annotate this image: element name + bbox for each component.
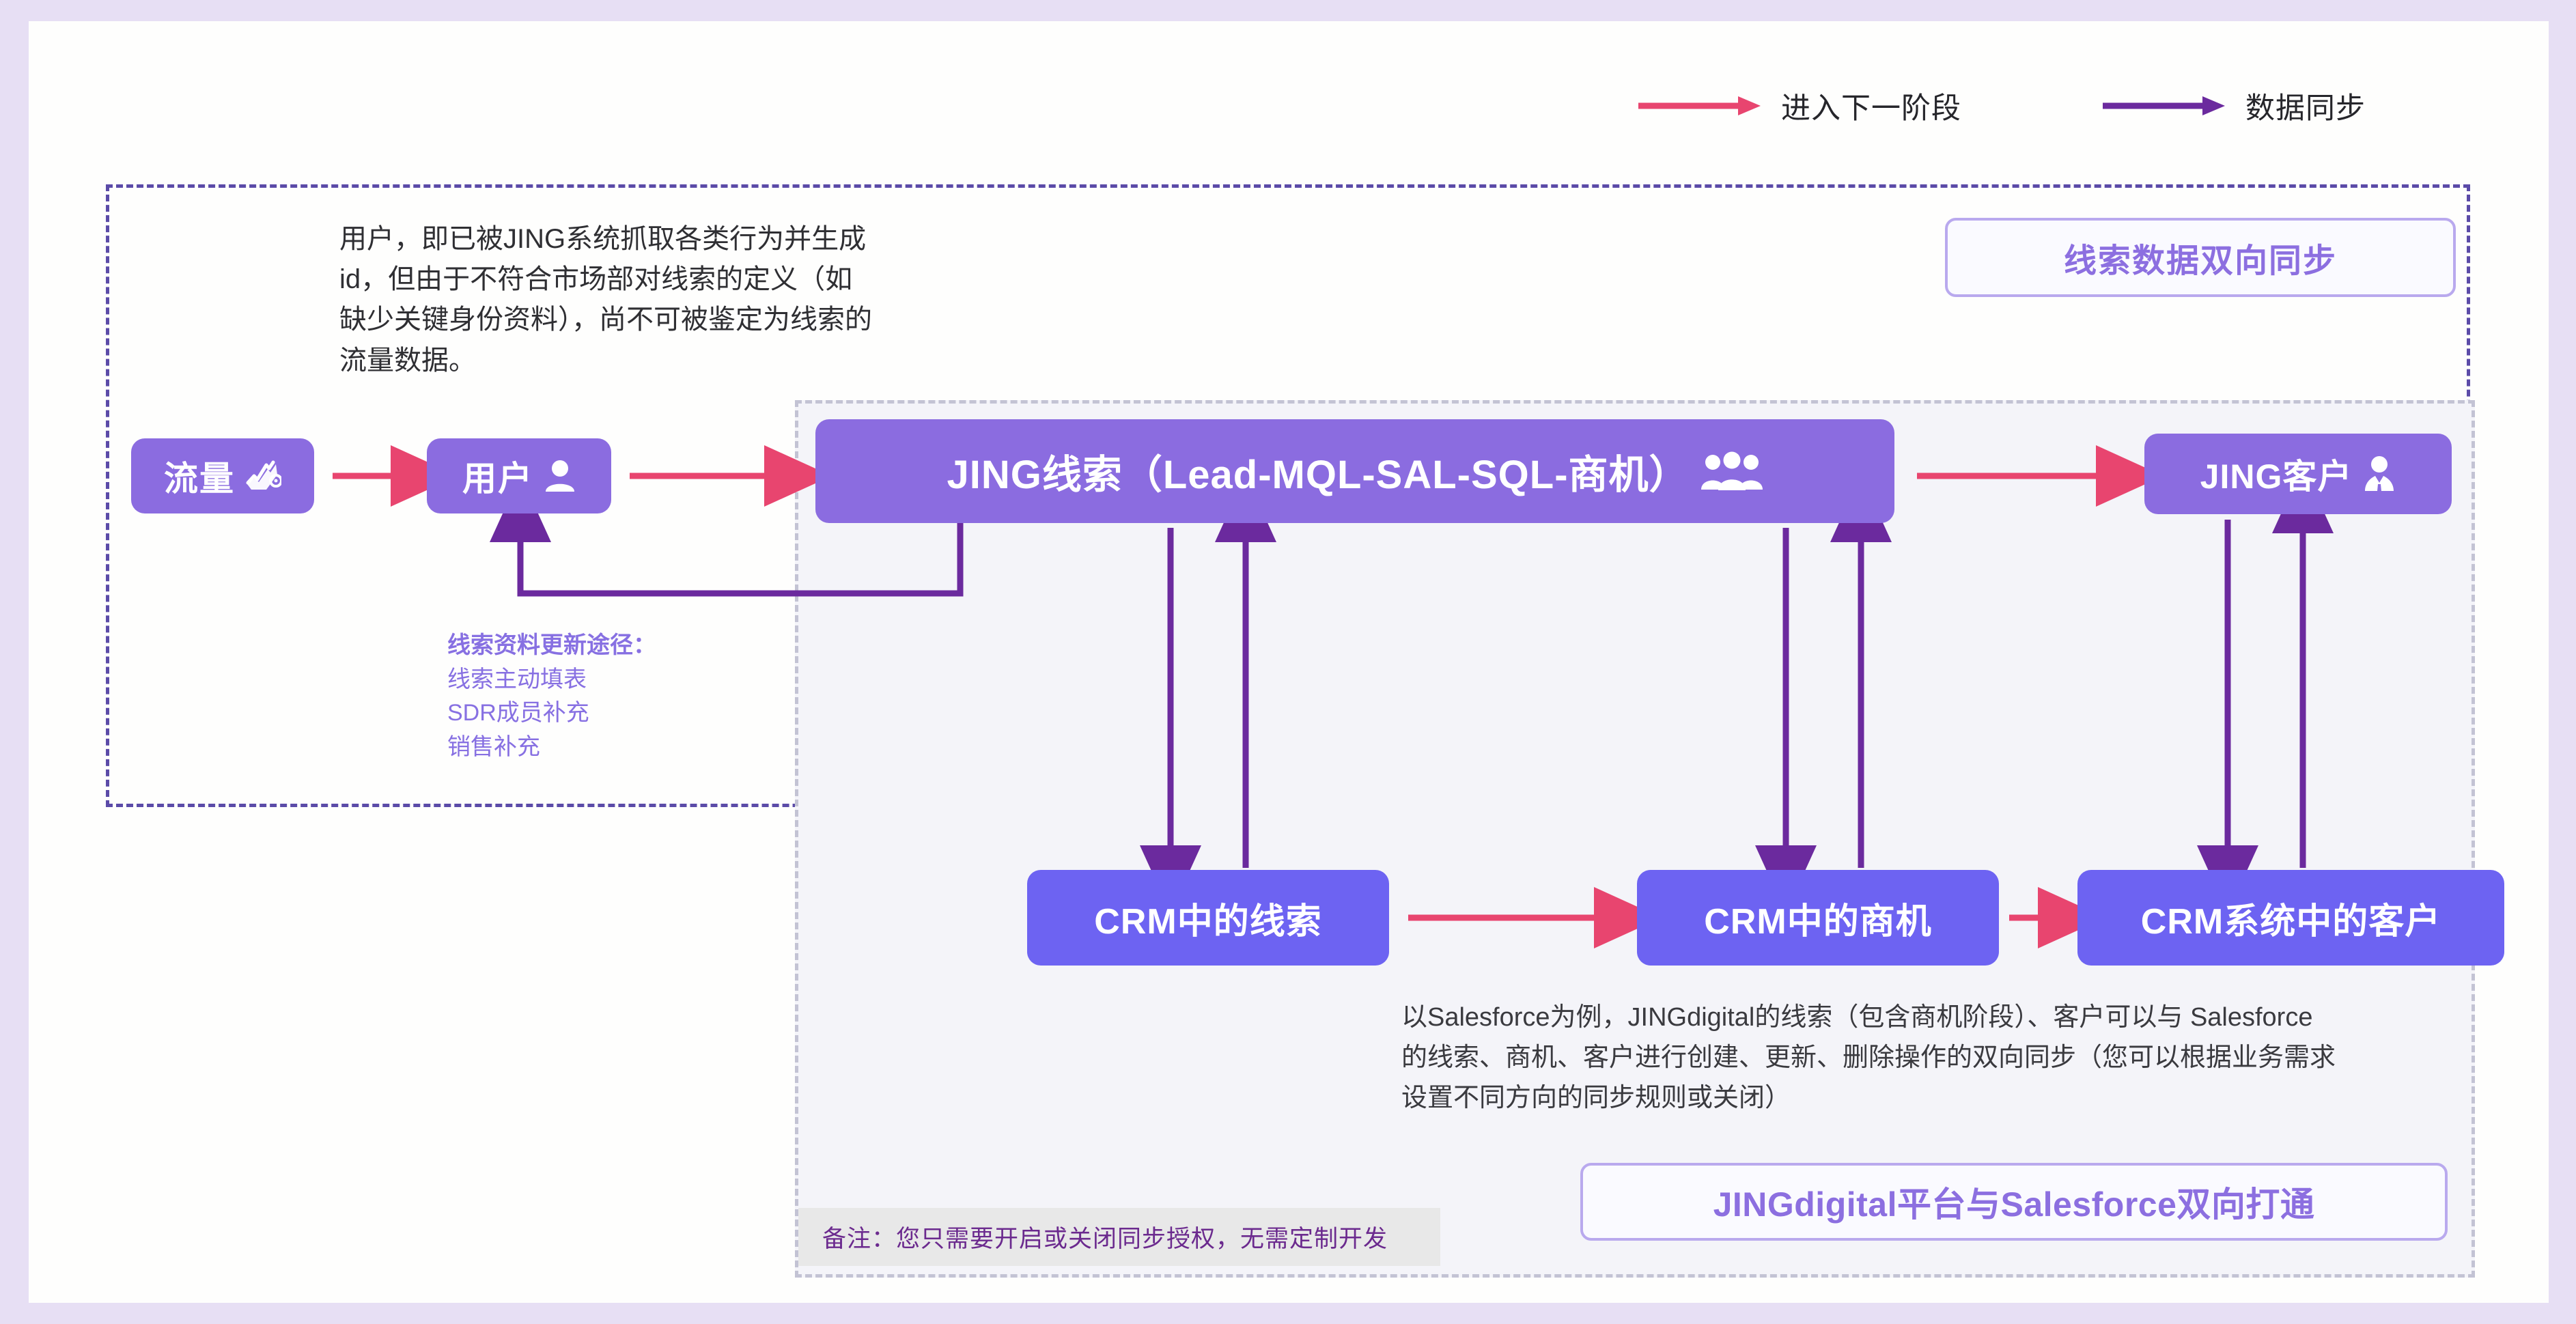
legend-item-data-sync: 数据同步 [2101,85,2366,127]
chart-trend-icon [246,460,281,492]
node-traffic-label: 流量 [164,451,235,501]
footnote-text: 备注：您只需要开启或关闭同步授权，无需定制开发 [822,1220,1388,1254]
people-group-icon [1700,451,1763,491]
badge-salesforce-sync-label: JINGdigital平台与Salesforce双向打通 [1713,1177,2315,1226]
legend-label-data-sync: 数据同步 [2245,85,2366,127]
intro-description: 用户，即已被JING系统抓取各类行为并生成id，但由于不符合市场部对线索的定义（… [339,219,879,381]
arrow-right-icon [1637,92,1763,119]
node-jing-customer-label: JING客户 [2200,449,2353,498]
badge-lead-data-sync: 线索数据双向同步 [1945,218,2456,297]
arrow-right-icon [2101,92,2228,119]
node-user[interactable]: 用户 [427,438,611,513]
lead-update-path-item: 线索主动填表 [447,663,656,697]
node-crm-lead[interactable]: CRM中的线索 [1027,870,1389,966]
badge-lead-data-sync-label: 线索数据双向同步 [2064,234,2337,281]
legend-item-next-stage: 进入下一阶段 [1637,85,1961,127]
legend: 进入下一阶段 数据同步 [1637,81,2366,130]
node-jing-lead[interactable]: JING线索（Lead-MQL-SAL-SQL-商机） [815,419,1894,523]
crm-salesforce-region [795,400,2475,1278]
lead-update-path-item: 销售补充 [447,731,656,765]
diagram-canvas: 进入下一阶段 数据同步 [29,21,2549,1303]
lead-update-path-item: SDR成员补充 [447,696,656,731]
person-suit-icon [2363,455,2396,492]
node-crm-customer-label: CRM系统中的客户 [2141,892,2441,944]
lead-update-paths: 线索资料更新途径： 线索主动填表 SDR成员补充 销售补充 [447,629,656,765]
salesforce-description: 以Salesforce为例，JINGdigital的线索（包含商机阶段）、客户可… [1401,998,2344,1118]
person-icon [544,459,576,493]
node-user-label: 用户 [462,451,533,501]
node-crm-lead-label: CRM中的线索 [1094,892,1321,944]
badge-salesforce-sync: JINGdigital平台与Salesforce双向打通 [1580,1163,2448,1241]
node-crm-opportunity[interactable]: CRM中的商机 [1637,870,1999,966]
node-jing-lead-label: JING线索（Lead-MQL-SAL-SQL-商机） [947,442,1689,500]
lead-update-paths-heading: 线索资料更新途径： [447,629,656,663]
legend-label-next-stage: 进入下一阶段 [1781,85,1961,127]
node-crm-opportunity-label: CRM中的商机 [1704,892,1931,944]
node-jing-customer[interactable]: JING客户 [2144,434,2452,514]
node-traffic[interactable]: 流量 [131,438,314,513]
node-crm-customer[interactable]: CRM系统中的客户 [2077,870,2504,966]
footnote-bar: 备注：您只需要开启或关闭同步授权，无需定制开发 [798,1208,1440,1266]
